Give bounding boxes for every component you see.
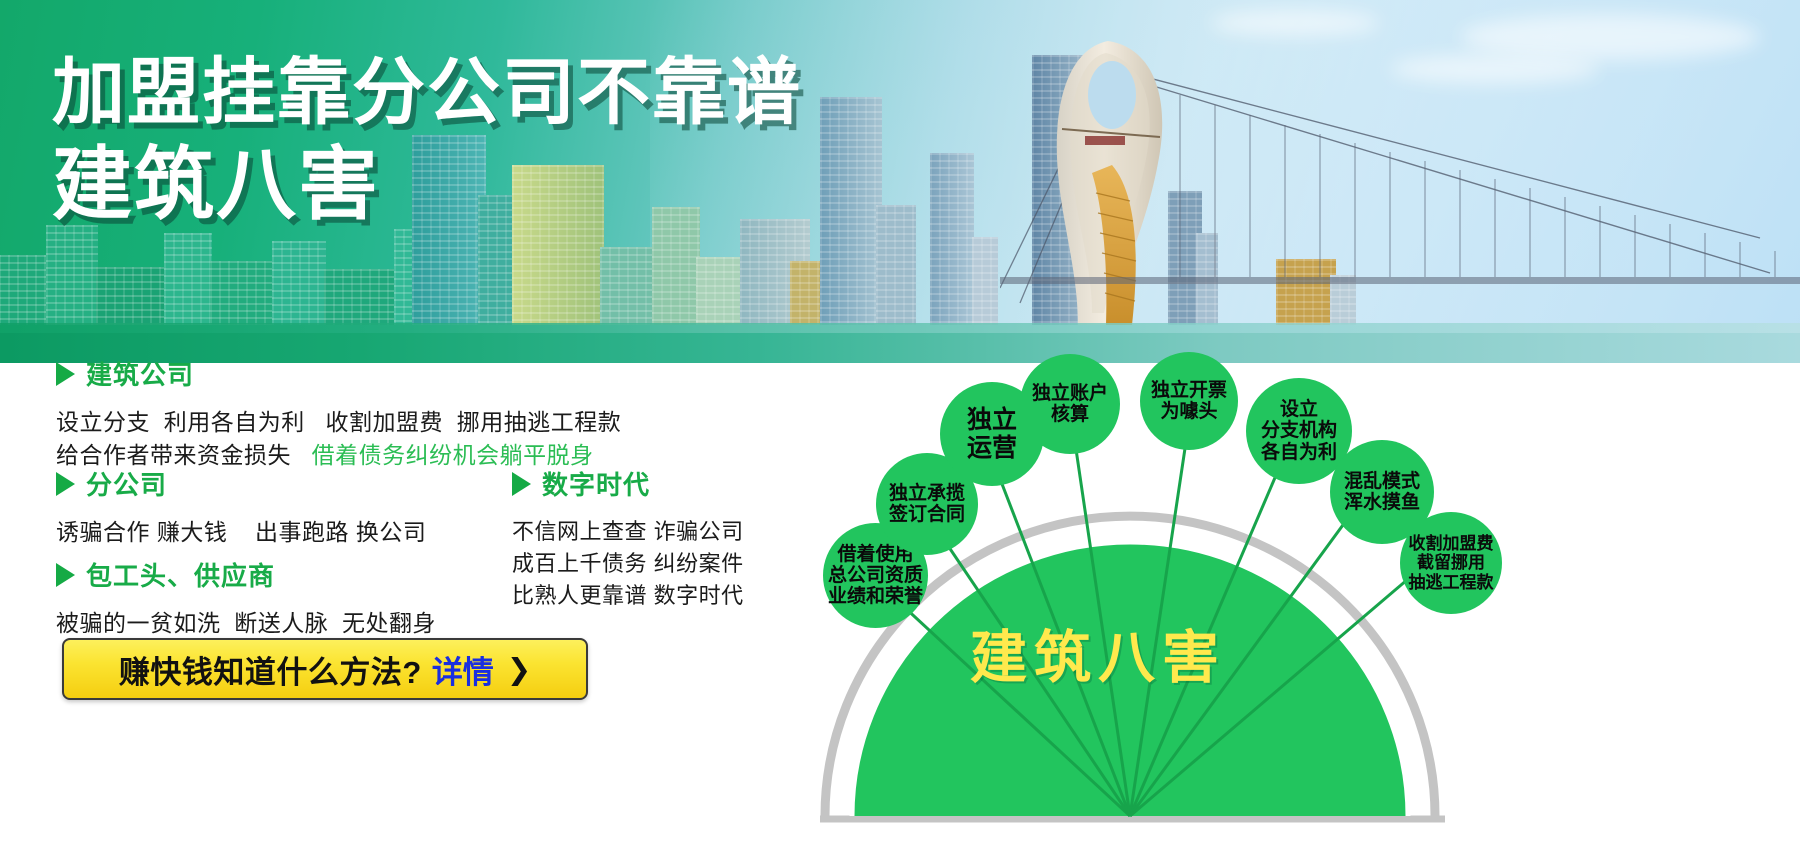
section-line: 给合作者带来资金损失 (56, 442, 291, 468)
hero-title-line1: 加盟挂靠分公司不靠谱 (52, 56, 802, 130)
bahai-dome-diagram: 建筑八害 借着使用 总公司资质 业绩和荣誉 独立承揽 签订合同 独立 运营 独立… (800, 330, 1800, 844)
section-line: 成百上千债务 纠纷案件 (512, 551, 744, 576)
triangle-bullet-icon (512, 472, 531, 496)
triangle-bullet-icon (56, 472, 75, 496)
section-header: 建筑公司 (56, 355, 621, 392)
section-line: 不信网上查查 诈骗公司 (512, 519, 744, 544)
section-contractor-supplier: 包工头、供应商 被骗的一贫如洗 断送人脉 无处翻身 (56, 556, 436, 640)
hero-title-line2: 建筑八害 (52, 144, 802, 226)
section-body: 诱骗合作 赚大钱 出事跑路 换公司 (56, 516, 426, 549)
bridge-image (1000, 33, 1800, 333)
section-line: 设立分支 利用各自为利 收割加盟费 挪用抽逃工程款 (56, 409, 621, 435)
section-body: 被骗的一贫如洗 断送人脉 无处翻身 (56, 607, 436, 640)
triangle-bullet-icon (56, 563, 75, 587)
section-header: 包工头、供应商 (56, 556, 436, 593)
hero-banner: 加盟挂靠分公司不靠谱 建筑八害 (0, 0, 1800, 363)
cta-label: 赚快钱知道什么方法? (119, 647, 422, 692)
section-digital-era: 数字时代 不信网上查查 诈骗公司成百上千债务 纠纷案件比熟人更靠谱 数字时代 (512, 465, 744, 612)
section-title: 分公司 (86, 465, 167, 502)
section-body: 设立分支 利用各自为利 收割加盟费 挪用抽逃工程款给合作者带来资金损失 借着债务… (56, 406, 621, 471)
bubble-independent-account[interactable]: 独立账户 核算 (1020, 354, 1120, 454)
cta-detail-link[interactable]: 详情 (432, 647, 494, 692)
left-content-column: 建筑公司 设立分支 利用各自为利 收割加盟费 挪用抽逃工程款给合作者带来资金损失… (0, 363, 810, 844)
section-branch-company: 分公司 诱骗合作 赚大钱 出事跑路 换公司 (56, 465, 426, 549)
chevron-right-icon: ❯ (507, 652, 531, 687)
poster-page: 加盟挂靠分公司不靠谱 建筑八害 建筑公司 设立分支 利用各自为利 收割加盟费 挪… (0, 0, 1800, 844)
bubble-independent-invoice[interactable]: 独立开票 为噱头 (1140, 352, 1238, 450)
section-body: 不信网上查查 诈骗公司成百上千债务 纠纷案件比熟人更靠谱 数字时代 (512, 516, 744, 612)
triangle-bullet-icon (56, 362, 75, 386)
section-title: 建筑公司 (86, 355, 194, 392)
bubble-harvest-franchise-fee[interactable]: 收割加盟费 截留挪用 抽逃工程款 (1400, 512, 1502, 614)
section-construction-company: 建筑公司 设立分支 利用各自为利 收割加盟费 挪用抽逃工程款给合作者带来资金损失… (56, 355, 621, 471)
section-header: 数字时代 (512, 465, 744, 502)
section-title: 数字时代 (542, 465, 650, 502)
dome-center-label: 建筑八害 (970, 612, 1226, 694)
hero-title: 加盟挂靠分公司不靠谱 建筑八害 (52, 56, 802, 226)
section-highlight: 借着债务纠纷机会躺平脱身 (312, 442, 594, 468)
section-line: 比熟人更靠谱 数字时代 (512, 583, 744, 608)
section-title: 包工头、供应商 (86, 556, 275, 593)
cta-button[interactable]: 赚快钱知道什么方法? 详情 ❯ (62, 638, 588, 700)
section-header: 分公司 (56, 465, 426, 502)
